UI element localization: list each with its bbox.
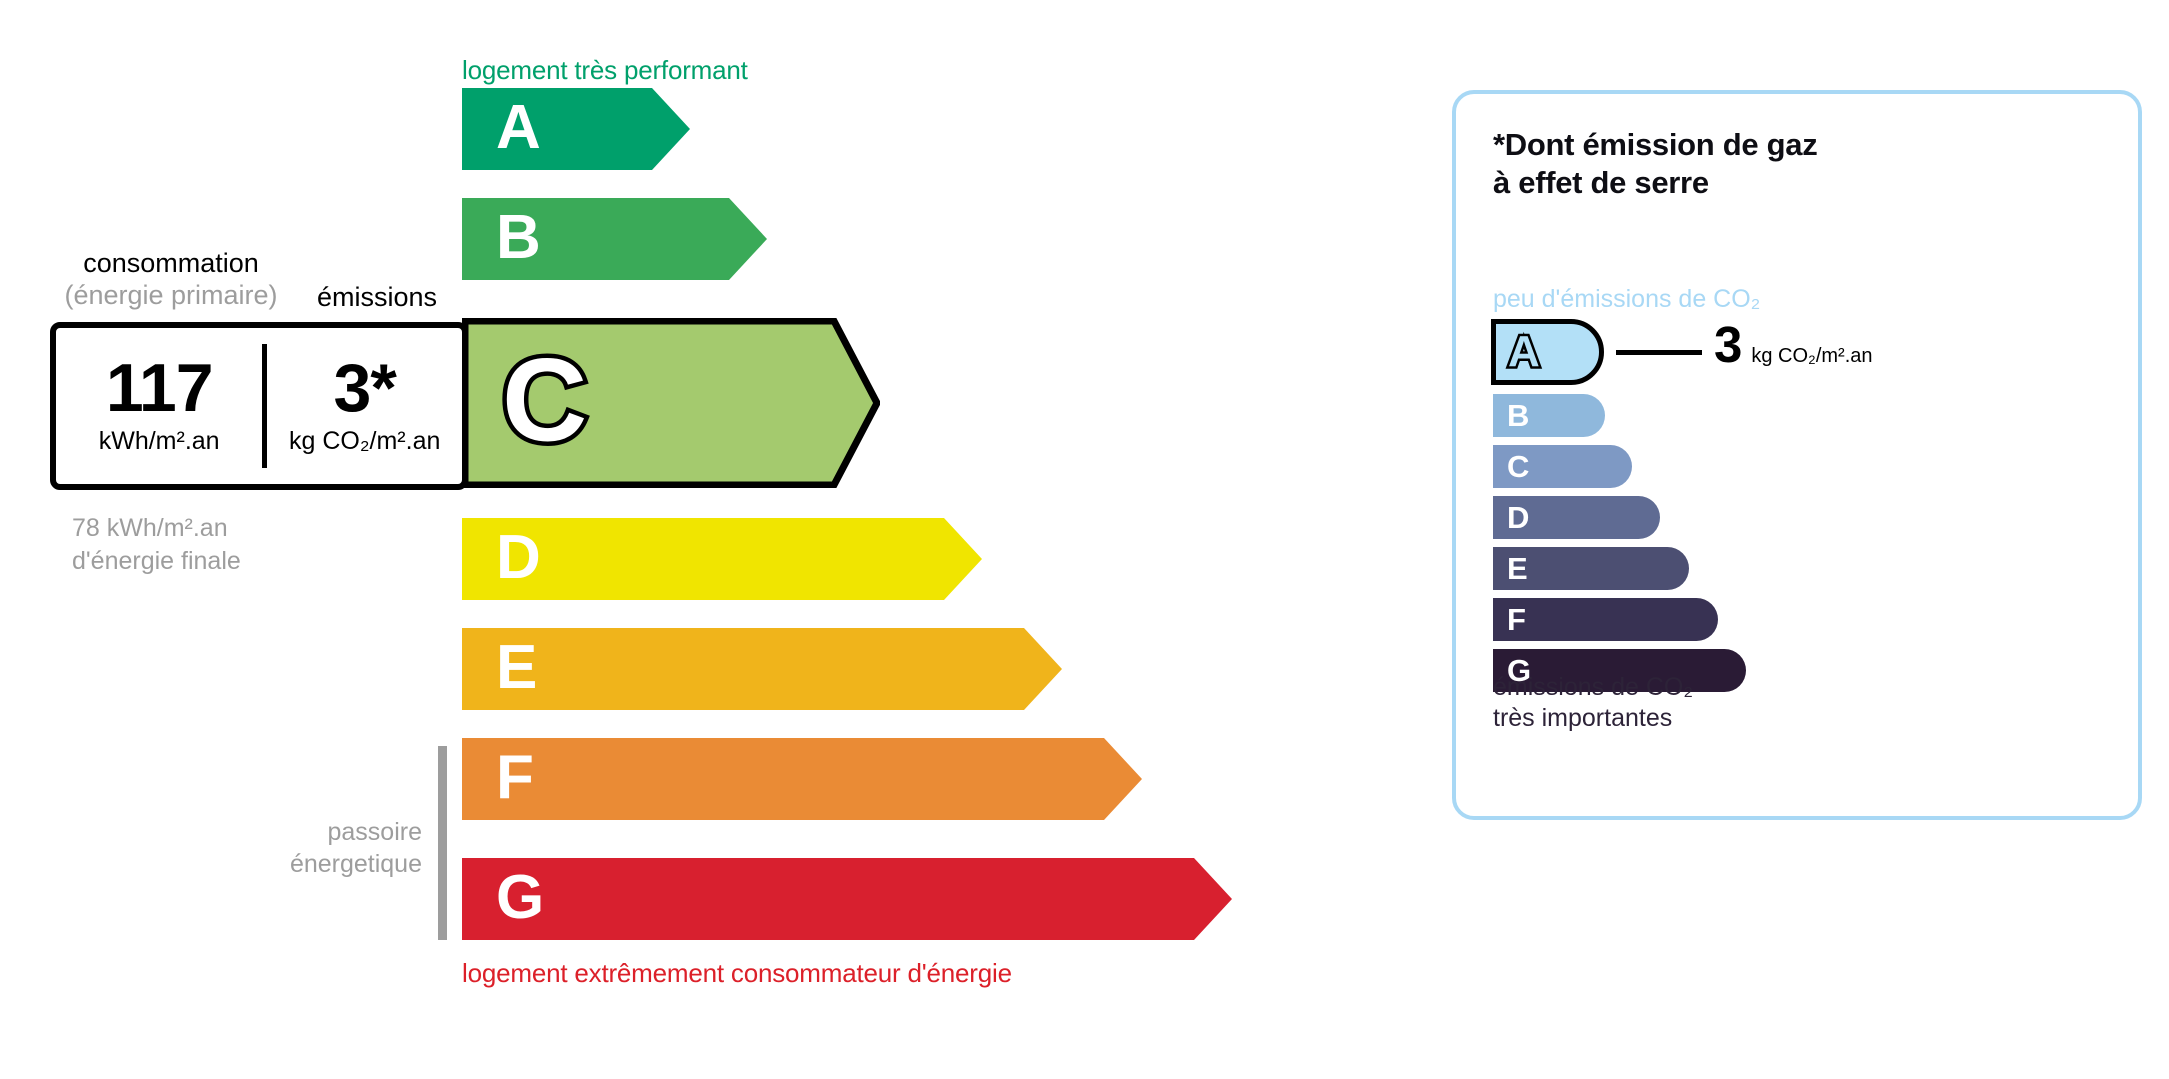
passoire-label: passoire énergetique — [250, 816, 422, 880]
band-letter-D: D — [496, 527, 541, 589]
energy-band-C-selected: C — [462, 318, 880, 488]
co2-bar-letter-F: F — [1507, 604, 1526, 635]
emissions-value: 3* — [334, 356, 396, 421]
energy-band-D: D — [462, 518, 982, 600]
emissions-header: émissions — [292, 282, 462, 313]
consumption-header-main: consommation — [56, 248, 286, 280]
band-letter-C: C — [502, 342, 587, 460]
final-energy-note: 78 kWh/m².an d'énergie finale — [72, 512, 241, 577]
co2-leader-line — [1616, 350, 1702, 355]
scale-bottom-caption: logement extrêmement consommateur d'éner… — [462, 958, 1012, 989]
final-energy-value: 78 kWh/m².an — [72, 512, 241, 545]
co2-bottom-caption-line2: très importantes — [1493, 703, 1693, 734]
consumption-value-cell: 117 kWh/m².an — [56, 328, 262, 484]
band-letter-E: E — [496, 637, 537, 699]
band-arrow-E — [462, 628, 1062, 710]
final-energy-label: d'énergie finale — [72, 545, 241, 578]
co2-unit: kg CO₂/m².an — [1751, 345, 1872, 368]
passoire-label-line1: passoire — [250, 816, 422, 848]
energy-band-A: A — [462, 88, 690, 170]
band-letter-A: A — [496, 97, 541, 159]
band-arrow-G — [462, 858, 1232, 940]
co2-bottom-caption: émissions de CO₂ très importantes — [1493, 672, 1693, 734]
passoire-indicator-bar — [438, 746, 447, 940]
co2-title-line2: à effet de serre — [1493, 164, 1817, 202]
energy-band-E: E — [462, 628, 1062, 710]
energy-band-B: B — [462, 198, 767, 280]
emissions-value-cell: 3* kg CO₂/m².an — [267, 328, 462, 484]
consumption-value: 117 — [106, 356, 213, 421]
energy-performance-scale: logement très performant A B — [0, 0, 1400, 1079]
band-letter-G: G — [496, 867, 544, 929]
co2-bar-C: C — [1493, 445, 1632, 488]
energy-band-F: F — [462, 738, 1142, 820]
passoire-label-line2: énergetique — [250, 848, 422, 880]
consumption-header-sub: (énergie primaire) — [56, 280, 286, 312]
co2-panel-title: *Dont émission de gaz à effet de serre — [1493, 126, 1817, 202]
co2-title-line1: *Dont émission de gaz — [1493, 126, 1817, 164]
emissions-unit: kg CO₂/m².an — [289, 427, 440, 456]
energy-band-G: G — [462, 858, 1232, 940]
co2-bar-A-selected: A — [1491, 319, 1604, 385]
dpe-diagram: logement très performant A B — [0, 0, 2169, 1079]
band-letter-F: F — [496, 747, 534, 809]
band-arrow-F — [462, 738, 1142, 820]
consumption-unit: kWh/m².an — [99, 427, 220, 456]
co2-value: 3 — [1714, 319, 1742, 370]
co2-bar-E: E — [1493, 547, 1689, 590]
co2-bar-letter-E: E — [1507, 553, 1528, 584]
value-box: 117 kWh/m².an 3* kg CO₂/m².an — [50, 322, 468, 490]
co2-bar-letter-B: B — [1507, 400, 1529, 431]
co2-bar-F: F — [1493, 598, 1718, 641]
consumption-header: consommation (énergie primaire) — [56, 248, 286, 311]
scale-top-caption: logement très performant — [462, 55, 748, 86]
co2-bottom-caption-line1: émissions de CO₂ — [1493, 672, 1693, 703]
band-letter-B: B — [496, 207, 541, 269]
co2-value-callout: 3 kg CO₂/m².an — [1714, 319, 1873, 370]
co2-bar-letter-A: A — [1508, 330, 1540, 374]
co2-bar-letter-D: D — [1507, 502, 1529, 533]
co2-top-caption: peu d'émissions de CO₂ — [1493, 285, 1760, 314]
co2-emissions-panel: *Dont émission de gaz à effet de serre p… — [1452, 90, 2142, 820]
co2-bar-letter-C: C — [1507, 451, 1529, 482]
co2-bar-D: D — [1493, 496, 1660, 539]
co2-bar-B: B — [1493, 394, 1605, 437]
